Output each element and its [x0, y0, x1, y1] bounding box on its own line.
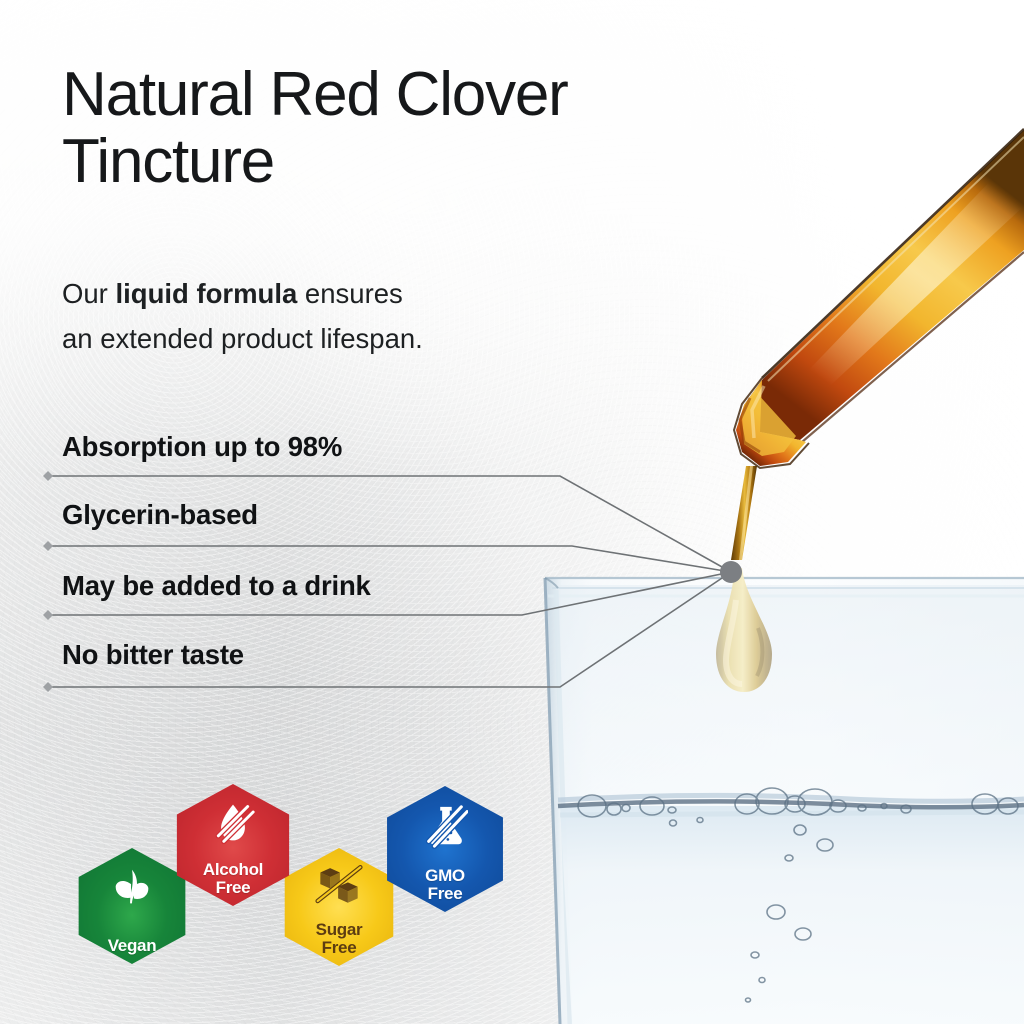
callout-marker-4 [43, 682, 53, 692]
badge-sugar-label-line1: Sugar [316, 920, 363, 939]
leaf-icon [109, 865, 155, 911]
page-title: Natural Red Clover Tincture [62, 62, 782, 196]
feature-label-4: No bitter taste [62, 639, 244, 671]
feature-label-1: Absorption up to 98% [62, 431, 342, 463]
callout-marker-2 [43, 541, 53, 551]
badge-vegan-label-line1: Vegan [108, 936, 157, 955]
subtitle-prefix: Our [62, 278, 115, 309]
no-droplet-icon [172, 801, 294, 845]
title-line-1: Natural Red Clover [62, 60, 568, 129]
badge-vegan-label: Vegan [108, 937, 157, 954]
badge-alcohol-label-line1: Alcohol [203, 860, 263, 879]
callout-marker-1 [43, 471, 53, 481]
product-infographic: Natural Red Clover Tincture Our liquid f… [0, 0, 1024, 1024]
feature-label-2: Glycerin-based [62, 499, 258, 531]
badge-sugar-label-line2: Free [322, 938, 357, 957]
subtitle-line-2: an extended product lifespan. [62, 323, 423, 354]
no-sugar-cubes-icon [280, 865, 398, 905]
title-line-2: Tincture [62, 127, 274, 196]
badge-gmo-label: GMOFree [425, 867, 465, 902]
subtitle: Our liquid formula ensures an extended p… [62, 272, 662, 361]
badge-alcohol-label-line2: Free [216, 878, 251, 897]
no-flask-icon [422, 803, 468, 849]
subtitle-suffix: ensures [297, 278, 402, 309]
leaf-icon [74, 865, 190, 911]
feature-label-3: May be added to a drink [62, 570, 371, 602]
callout-line-2 [48, 546, 731, 572]
callout-hub-dot [720, 561, 742, 583]
badge-alcohol-label: AlcoholFree [203, 861, 263, 896]
badge-gmo-label-line2: Free [428, 884, 463, 903]
badge-gmo-label-line1: GMO [425, 866, 465, 885]
no-droplet-icon [211, 801, 255, 845]
callout-marker-3 [43, 610, 53, 620]
no-sugar-cubes-icon [315, 865, 363, 905]
badge-sugar-label: SugarFree [316, 921, 363, 956]
subtitle-emphasis: liquid formula [115, 278, 297, 309]
